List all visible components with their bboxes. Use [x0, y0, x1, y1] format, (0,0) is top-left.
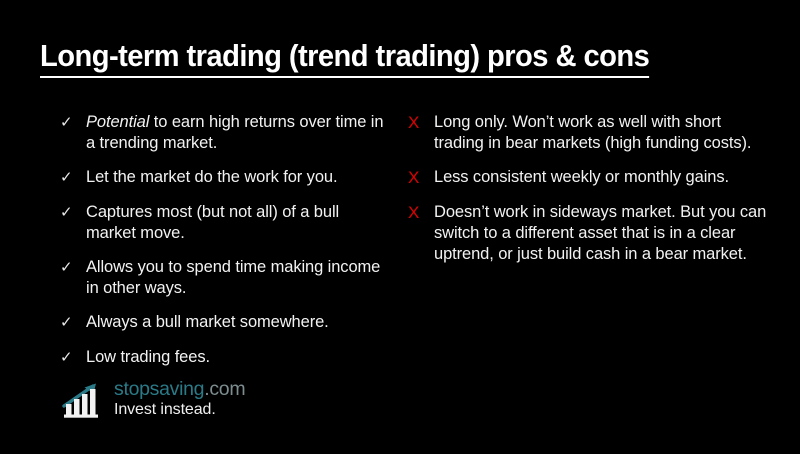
list-item-label: Long only. Won’t work as well with short… — [434, 112, 772, 154]
list-item-label: Potential to earn high returns over time… — [86, 112, 388, 154]
list-item: ✓ Potential to earn high returns over ti… — [60, 112, 388, 154]
cross-icon: X — [408, 112, 434, 134]
list-item: X Long only. Won’t work as well with sho… — [408, 112, 772, 154]
list-item-label: Captures most (but not all) of a bull ma… — [86, 202, 388, 244]
list-item-label: Allows you to spend time making income i… — [86, 257, 388, 299]
brand-name: stopsaving.com — [114, 378, 245, 400]
check-icon: ✓ — [60, 167, 86, 189]
bar-chart-uptrend-icon — [62, 378, 104, 420]
list-item: X Less consistent weekly or monthly gain… — [408, 167, 772, 189]
pros-cons-columns: ✓ Potential to earn high returns over ti… — [0, 112, 800, 382]
check-icon: ✓ — [60, 112, 86, 134]
list-item: ✓ Captures most (but not all) of a bull … — [60, 202, 388, 244]
list-item-label: Doesn’t work in sideways market. But you… — [434, 202, 772, 265]
cross-icon: X — [408, 202, 434, 224]
list-item: ✓ Low trading fees. — [60, 347, 388, 369]
page-title-text: Long-term trading (trend trading) pros &… — [40, 38, 649, 78]
brand-logo-text: stopsaving.com Invest instead. — [114, 378, 245, 420]
list-item-label: Low trading fees. — [86, 347, 388, 368]
list-item-label: Always a bull market somewhere. — [86, 312, 388, 333]
pros-column: ✓ Potential to earn high returns over ti… — [0, 112, 400, 382]
list-item: ✓ Allows you to spend time making income… — [60, 257, 388, 299]
cons-column: X Long only. Won’t work as well with sho… — [400, 112, 800, 382]
list-item-label: Let the market do the work for you. — [86, 167, 388, 188]
brand-name-main: stopsaving — [114, 378, 204, 400]
check-icon: ✓ — [60, 312, 86, 334]
slide-canvas: Long-term trading (trend trading) pros &… — [0, 0, 800, 454]
page-title: Long-term trading (trend trading) pros &… — [40, 38, 760, 78]
list-item: ✓ Let the market do the work for you. — [60, 167, 388, 189]
list-item-label: Less consistent weekly or monthly gains. — [434, 167, 772, 188]
check-icon: ✓ — [60, 257, 86, 279]
list-item-emphasis: Potential — [86, 113, 149, 131]
check-icon: ✓ — [60, 347, 86, 369]
cross-icon: X — [408, 167, 434, 189]
list-item: X Doesn’t work in sideways market. But y… — [408, 202, 772, 265]
brand-tagline: Invest instead. — [114, 400, 245, 420]
check-icon: ✓ — [60, 202, 86, 224]
brand-logo[interactable]: stopsaving.com Invest instead. — [62, 378, 245, 420]
brand-name-tld: .com — [204, 378, 245, 400]
list-item: ✓ Always a bull market somewhere. — [60, 312, 388, 334]
